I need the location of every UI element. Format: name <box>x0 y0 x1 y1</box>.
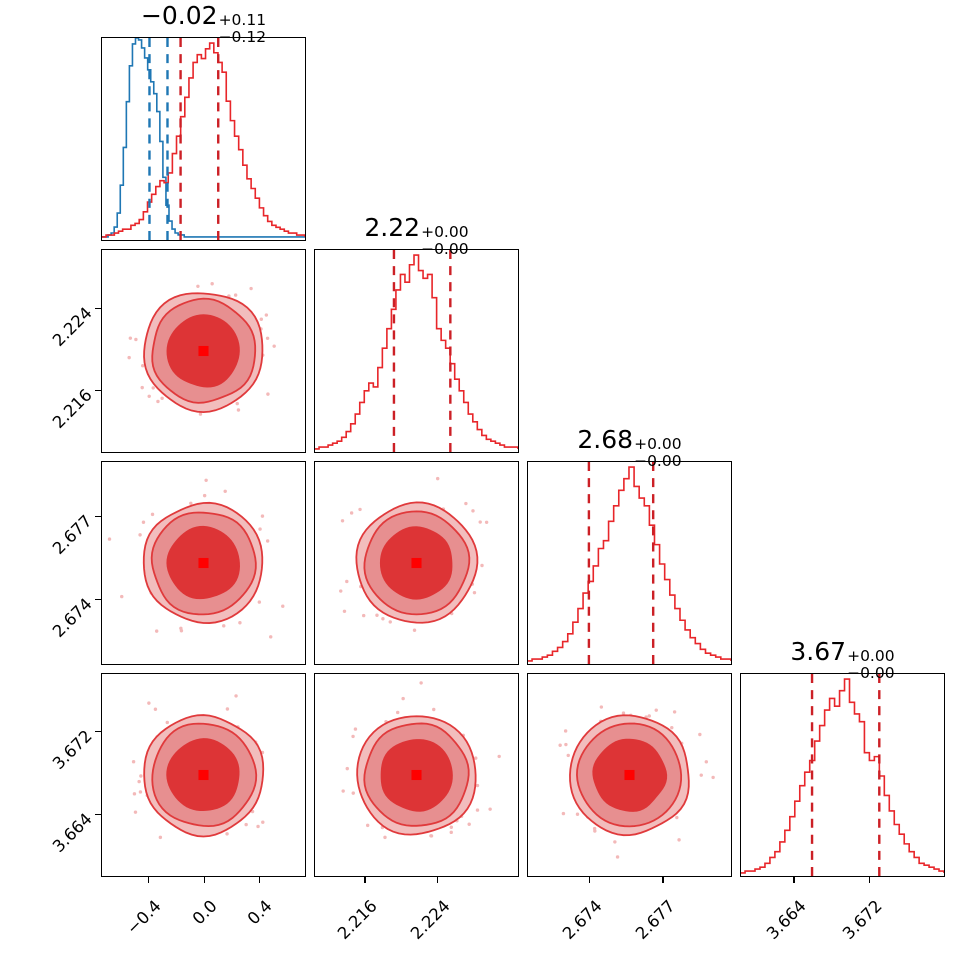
histogram-panel-1 <box>101 37 306 241</box>
truth-marker <box>624 770 634 780</box>
contour-panel-r4c3 <box>527 673 732 877</box>
xtick-mark <box>204 877 205 883</box>
xtick-label: 2.677 <box>632 896 679 943</box>
contour-panel-r3c1 <box>101 461 306 665</box>
histogram-line-posterior <box>102 43 305 237</box>
lower-error: −0.00 <box>421 241 469 257</box>
upper-error: +0.00 <box>421 224 469 240</box>
xtick-mark <box>662 877 663 883</box>
corner-plot-figure: −0.02+0.11−0.122.22+0.00−0.002.68+0.00−0… <box>0 0 970 970</box>
histogram-panel-3 <box>527 461 732 665</box>
xtick-mark <box>148 877 149 883</box>
xtick-label: 2.224 <box>407 896 454 943</box>
median-value: 3.67 <box>790 637 846 666</box>
panel-title-1: −0.02+0.11−0.12 <box>101 3 306 45</box>
median-value: 2.68 <box>577 425 633 454</box>
lower-error: −0.12 <box>219 29 267 45</box>
truth-marker <box>198 558 208 568</box>
upper-error: +0.11 <box>219 12 267 28</box>
ytick-mark <box>95 814 101 815</box>
xtick-label: −0.4 <box>123 896 165 938</box>
upper-error: +0.00 <box>634 436 682 452</box>
ytick-label: 3.672 <box>49 726 96 773</box>
upper-error: +0.00 <box>847 648 895 664</box>
lower-error: −0.00 <box>847 665 895 681</box>
histogram-line-posterior <box>741 679 944 873</box>
panel-title-3: 2.68+0.00−0.00 <box>527 427 732 469</box>
truth-marker <box>198 770 208 780</box>
histogram-panel-2 <box>314 249 519 453</box>
contour-panel-r4c1 <box>101 673 306 877</box>
contour-panel-r3c2 <box>314 461 519 665</box>
panel-title-2: 2.22+0.00−0.00 <box>314 215 519 257</box>
median-value: −0.02 <box>141 1 218 30</box>
histogram-line-posterior <box>315 255 518 449</box>
contour-panel-r2c1 <box>101 249 306 453</box>
ytick-mark <box>95 516 101 517</box>
xtick-mark <box>259 877 260 883</box>
xtick-mark <box>364 877 365 883</box>
ytick-mark <box>95 390 101 391</box>
ytick-label: 2.224 <box>49 303 96 350</box>
xtick-label: 0.4 <box>244 896 276 928</box>
truth-marker <box>411 770 421 780</box>
xtick-mark <box>589 877 590 883</box>
histogram-line-posterior <box>528 467 731 661</box>
xtick-mark <box>793 877 794 883</box>
ytick-mark <box>95 308 101 309</box>
lower-error: −0.00 <box>634 453 682 469</box>
contour-panel-r4c2 <box>314 673 519 877</box>
xtick-label: 2.674 <box>558 896 605 943</box>
ytick-label: 2.674 <box>49 594 96 641</box>
ytick-label: 2.216 <box>49 385 96 432</box>
xtick-label: 2.216 <box>334 896 381 943</box>
xtick-label: 0.0 <box>188 896 220 928</box>
ytick-mark <box>95 731 101 732</box>
ytick-label: 2.677 <box>49 511 96 558</box>
xtick-mark <box>869 877 870 883</box>
truth-marker <box>198 346 208 356</box>
panel-title-4: 3.67+0.00−0.00 <box>740 639 945 681</box>
xtick-mark <box>437 877 438 883</box>
xtick-label: 3.664 <box>763 896 810 943</box>
median-value: 2.22 <box>364 213 420 242</box>
histogram-panel-4 <box>740 673 945 877</box>
xtick-label: 3.672 <box>839 896 886 943</box>
ytick-mark <box>95 599 101 600</box>
ytick-label: 3.664 <box>49 809 96 856</box>
histogram-line-comparison <box>102 38 305 237</box>
truth-marker <box>411 558 421 568</box>
